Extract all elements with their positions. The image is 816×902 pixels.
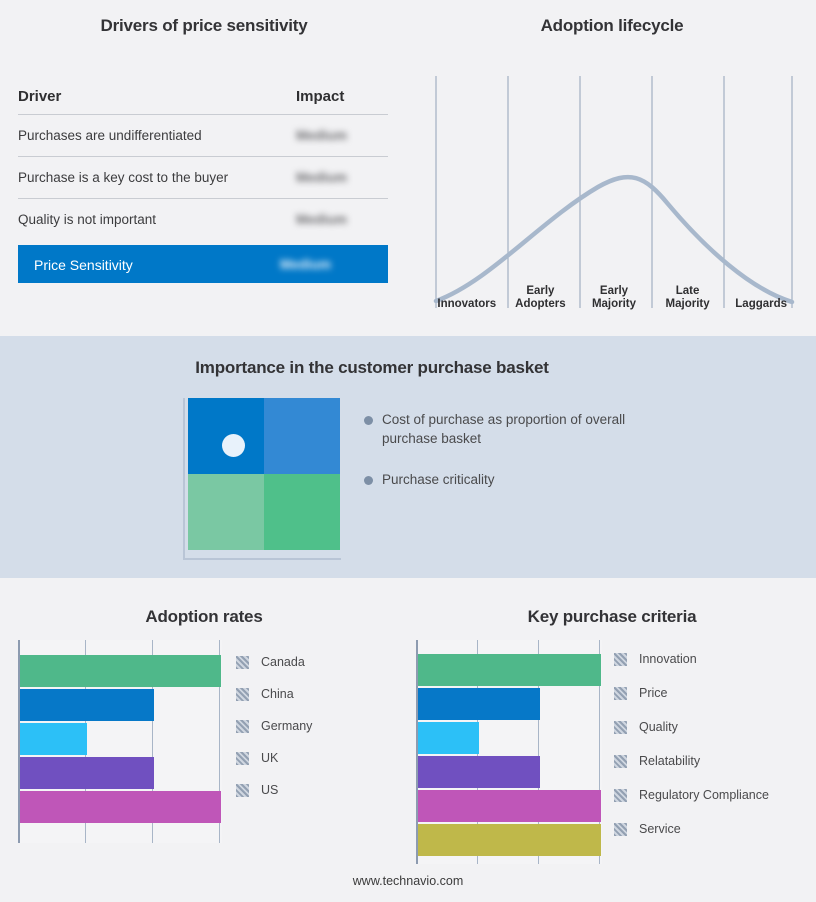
bar-us[interactable] <box>20 791 221 823</box>
legend-label: Canada <box>261 655 305 669</box>
matrix-quadrant-grid <box>188 398 340 550</box>
bar-regulatory-compliance[interactable] <box>418 790 601 822</box>
bar-innovation[interactable] <box>418 654 601 686</box>
list-item: Cost of purchase as proportion of overal… <box>364 410 664 448</box>
driver-impact: Medium <box>280 257 372 272</box>
stage-line2: Majority <box>651 298 725 311</box>
criteria-title: Key purchase criteria <box>408 607 816 627</box>
bar-relatability[interactable] <box>418 756 540 788</box>
table-row-price-sensitivity[interactable]: Price Sensitivity Medium <box>18 245 388 283</box>
legend-label: Price <box>639 686 667 700</box>
legend-swatch-icon <box>614 653 627 666</box>
quadrant-bottom-left[interactable] <box>188 474 264 550</box>
key-purchase-criteria-legend: Innovation Price Quality Relatability Re… <box>614 642 769 846</box>
bar-uk[interactable] <box>20 757 154 789</box>
matrix-position-marker-icon <box>222 434 245 457</box>
key-purchase-criteria-plot <box>416 640 602 864</box>
legend-item-us[interactable]: US <box>236 774 312 806</box>
bullet-icon <box>364 476 373 485</box>
matrix-y-axis <box>183 398 185 558</box>
legend-swatch-icon <box>614 721 627 734</box>
adoption-lifecycle-panel: Adoption lifecycle Innovators Ea <box>408 0 816 336</box>
driver-name: Price Sensitivity <box>34 257 280 273</box>
adoption-rates-legend: Canada China Germany UK US <box>236 646 312 806</box>
table-row[interactable]: Purchases are undifferentiated Medium <box>18 114 388 156</box>
legend-item-china[interactable]: China <box>236 678 312 710</box>
legend-item-canada[interactable]: Canada <box>236 646 312 678</box>
driver-name: Purchase is a key cost to the buyer <box>18 170 296 185</box>
basket-legend: Cost of purchase as proportion of overal… <box>364 410 664 511</box>
legend-swatch-icon <box>236 784 249 797</box>
stage-line2: Adopters <box>504 298 578 311</box>
legend-label: Relatability <box>639 754 700 768</box>
list-item: Purchase criticality <box>364 470 664 489</box>
table-row[interactable]: Quality is not important Medium <box>18 198 388 240</box>
stage-line2: Majority <box>577 298 651 311</box>
drivers-of-price-sensitivity-panel: Drivers of price sensitivity Driver Impa… <box>0 0 408 336</box>
column-header-driver: Driver <box>18 88 296 105</box>
legend-label: US <box>261 783 278 797</box>
stage-early-adopters: Early Adopters <box>504 272 578 312</box>
matrix-x-axis <box>183 558 341 560</box>
bullet-icon <box>364 416 373 425</box>
bottom-section: Adoption rates Canada China Germany <box>0 578 816 902</box>
legend-label: Germany <box>261 719 312 733</box>
drivers-table: Driver Impact Purchases are undifferenti… <box>18 88 388 283</box>
stage-laggards: Laggards <box>724 272 798 312</box>
driver-impact: Medium <box>296 170 388 185</box>
driver-impact: Medium <box>296 212 388 227</box>
legend-label: Service <box>639 822 681 836</box>
legend-swatch-icon <box>614 755 627 768</box>
top-section: Drivers of price sensitivity Driver Impa… <box>0 0 816 336</box>
bar-price[interactable] <box>418 688 540 720</box>
lifecycle-stage-labels: Innovators Early Adopters Early Majority… <box>430 272 798 312</box>
basket-legend-label: Cost of purchase as proportion of overal… <box>382 410 640 448</box>
stage-early-majority: Early Majority <box>577 272 651 312</box>
driver-name: Quality is not important <box>18 212 296 227</box>
stage-line1: Early <box>504 285 578 298</box>
table-row[interactable]: Purchase is a key cost to the buyer Medi… <box>18 156 388 198</box>
bar-quality[interactable] <box>418 722 479 754</box>
stage-line1: Early <box>577 285 651 298</box>
legend-item-uk[interactable]: UK <box>236 742 312 774</box>
legend-swatch-icon <box>236 752 249 765</box>
legend-label: Regulatory Compliance <box>639 788 769 802</box>
quadrant-bottom-right[interactable] <box>264 474 340 550</box>
drivers-table-header: Driver Impact <box>18 88 388 114</box>
purchase-basket-panel: Importance in the customer purchase bask… <box>0 336 816 578</box>
purchase-basket-matrix <box>180 398 342 563</box>
stage-line1: Late <box>651 285 725 298</box>
key-purchase-criteria-panel: Key purchase criteria Innovation Price <box>408 578 816 902</box>
driver-impact: Medium <box>296 128 388 143</box>
lifecycle-panel-title: Adoption lifecycle <box>408 16 816 36</box>
adoption-rates-title: Adoption rates <box>0 607 408 627</box>
legend-item-regulatory-compliance[interactable]: Regulatory Compliance <box>614 778 769 812</box>
legend-item-innovation[interactable]: Innovation <box>614 642 769 676</box>
legend-swatch-icon <box>236 688 249 701</box>
legend-item-relatability[interactable]: Relatability <box>614 744 769 778</box>
stage-line2: Laggards <box>724 298 798 311</box>
bar-canada[interactable] <box>20 655 221 687</box>
bar-service[interactable] <box>418 824 601 856</box>
quadrant-top-right[interactable] <box>264 398 340 474</box>
legend-label: China <box>261 687 294 701</box>
legend-label: UK <box>261 751 278 765</box>
column-header-impact: Impact <box>296 88 388 105</box>
basket-panel-title: Importance in the customer purchase bask… <box>0 358 744 378</box>
legend-item-service[interactable]: Service <box>614 812 769 846</box>
bar-china[interactable] <box>20 689 154 721</box>
legend-item-germany[interactable]: Germany <box>236 710 312 742</box>
adoption-rates-panel: Adoption rates Canada China Germany <box>0 578 408 902</box>
basket-legend-label: Purchase criticality <box>382 470 495 489</box>
legend-label: Quality <box>639 720 678 734</box>
legend-swatch-icon <box>614 687 627 700</box>
legend-item-quality[interactable]: Quality <box>614 710 769 744</box>
quadrant-top-left[interactable] <box>188 398 264 474</box>
legend-swatch-icon <box>236 656 249 669</box>
legend-swatch-icon <box>614 789 627 802</box>
bar-germany[interactable] <box>20 723 87 755</box>
watermark: www.technavio.com <box>0 874 816 888</box>
legend-swatch-icon <box>236 720 249 733</box>
legend-swatch-icon <box>614 823 627 836</box>
stage-late-majority: Late Majority <box>651 272 725 312</box>
legend-item-price[interactable]: Price <box>614 676 769 710</box>
legend-label: Innovation <box>639 652 697 666</box>
stage-innovators: Innovators <box>430 272 504 312</box>
drivers-panel-title: Drivers of price sensitivity <box>0 16 408 36</box>
driver-name: Purchases are undifferentiated <box>18 128 296 143</box>
adoption-rates-plot <box>18 640 222 843</box>
stage-line2: Innovators <box>430 298 504 311</box>
